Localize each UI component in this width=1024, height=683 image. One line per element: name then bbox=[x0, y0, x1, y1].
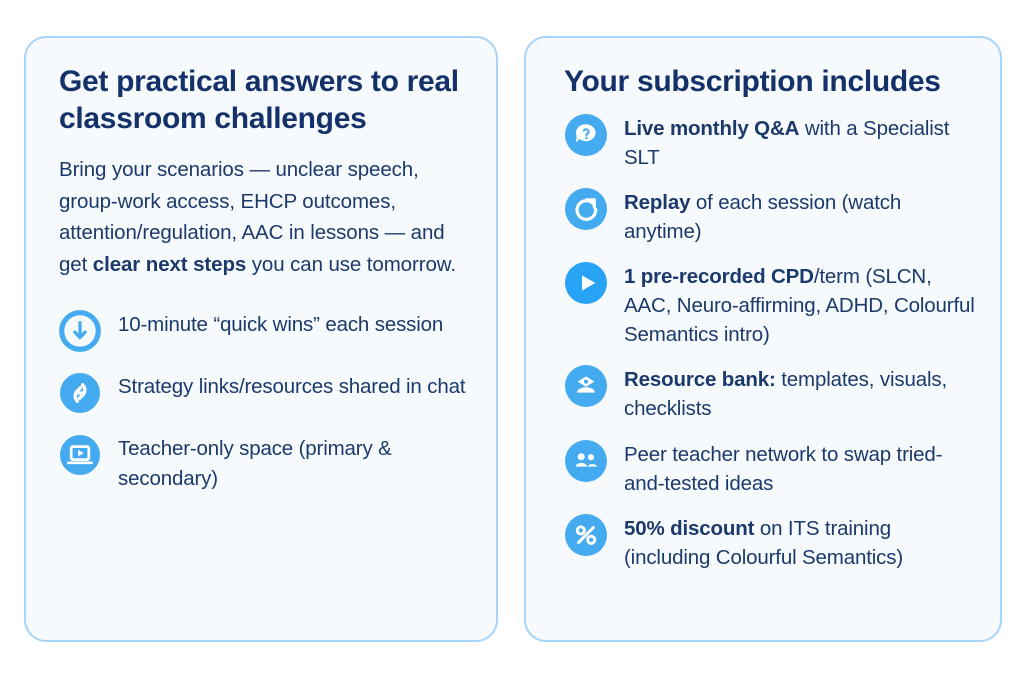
list-item-label: Resource bank: templates, visuals, check… bbox=[624, 363, 978, 423]
peer-network-icon bbox=[564, 439, 608, 483]
list-item: 50% discount on ITS training (including … bbox=[564, 512, 978, 572]
list-item-label-rest: Peer teacher network to swap tried-and-t… bbox=[624, 443, 942, 495]
list-item: 1 pre-recorded CPD/term (SLCN, AAC, Neur… bbox=[564, 260, 978, 349]
left-card-title: Get practical answers to real classroom … bbox=[59, 64, 459, 137]
list-item-label: 10-minute “quick wins” each session bbox=[118, 308, 443, 340]
play-button-icon bbox=[564, 261, 608, 305]
laptop-play-icon bbox=[59, 434, 101, 476]
list-item-label: Strategy links/resources shared in chat bbox=[118, 370, 465, 402]
list-item-label-bold: Replay bbox=[624, 191, 690, 214]
right-card-bullet-list: Live monthly Q&A with a Specialist SLT R… bbox=[564, 112, 978, 572]
clock-down-arrow-icon bbox=[59, 310, 101, 352]
list-item: Resource bank: templates, visuals, check… bbox=[564, 363, 978, 423]
list-item-label-bold: 1 pre-recorded CPD bbox=[624, 265, 814, 288]
list-item-label: 50% discount on ITS training (including … bbox=[624, 512, 978, 572]
list-item-label: Peer teacher network to swap tried-and-t… bbox=[624, 438, 978, 498]
list-item-label: Live monthly Q&A with a Specialist SLT bbox=[624, 112, 978, 172]
right-card: Your subscription includes Live monthly … bbox=[524, 36, 1002, 642]
list-item-label: Replay of each session (watch anytime) bbox=[624, 186, 978, 246]
list-item-label: 1 pre-recorded CPD/term (SLCN, AAC, Neur… bbox=[624, 260, 978, 349]
link-chain-icon bbox=[59, 372, 101, 414]
resource-bank-icon bbox=[564, 364, 608, 408]
list-item: Strategy links/resources shared in chat bbox=[59, 370, 466, 414]
list-item-label: Teacher-only space (primary & secondary) bbox=[118, 432, 466, 493]
left-card-intro-paragraph: Bring your scenarios — unclear speech, g… bbox=[59, 154, 466, 280]
intro-text-part2: you can use tomorrow. bbox=[246, 253, 456, 276]
list-item: Teacher-only space (primary & secondary) bbox=[59, 432, 466, 493]
list-item: Peer teacher network to swap tried-and-t… bbox=[564, 438, 978, 498]
list-item-label-bold: 50% discount bbox=[624, 517, 754, 540]
intro-text-bold: clear next steps bbox=[93, 253, 246, 276]
promo-two-card-layout: Get practical answers to real classroom … bbox=[0, 0, 1024, 683]
list-item-label-bold: Live monthly Q&A bbox=[624, 117, 799, 140]
right-card-title: Your subscription includes bbox=[564, 64, 978, 101]
question-bubble-icon bbox=[564, 113, 608, 157]
list-item-label-bold: Resource bank: bbox=[624, 368, 776, 391]
right-card-content: Your subscription includes Live monthly … bbox=[526, 38, 1000, 572]
list-item: Live monthly Q&A with a Specialist SLT bbox=[564, 112, 978, 172]
left-card-content: Get practical answers to real classroom … bbox=[26, 38, 496, 493]
replay-refresh-icon bbox=[564, 187, 608, 231]
left-card: Get practical answers to real classroom … bbox=[24, 36, 498, 642]
percent-discount-icon bbox=[564, 513, 608, 557]
list-item: Replay of each session (watch anytime) bbox=[564, 186, 978, 246]
list-item: 10-minute “quick wins” each session bbox=[59, 308, 466, 352]
left-card-bullet-list: 10-minute “quick wins” each session Stra… bbox=[59, 308, 466, 493]
